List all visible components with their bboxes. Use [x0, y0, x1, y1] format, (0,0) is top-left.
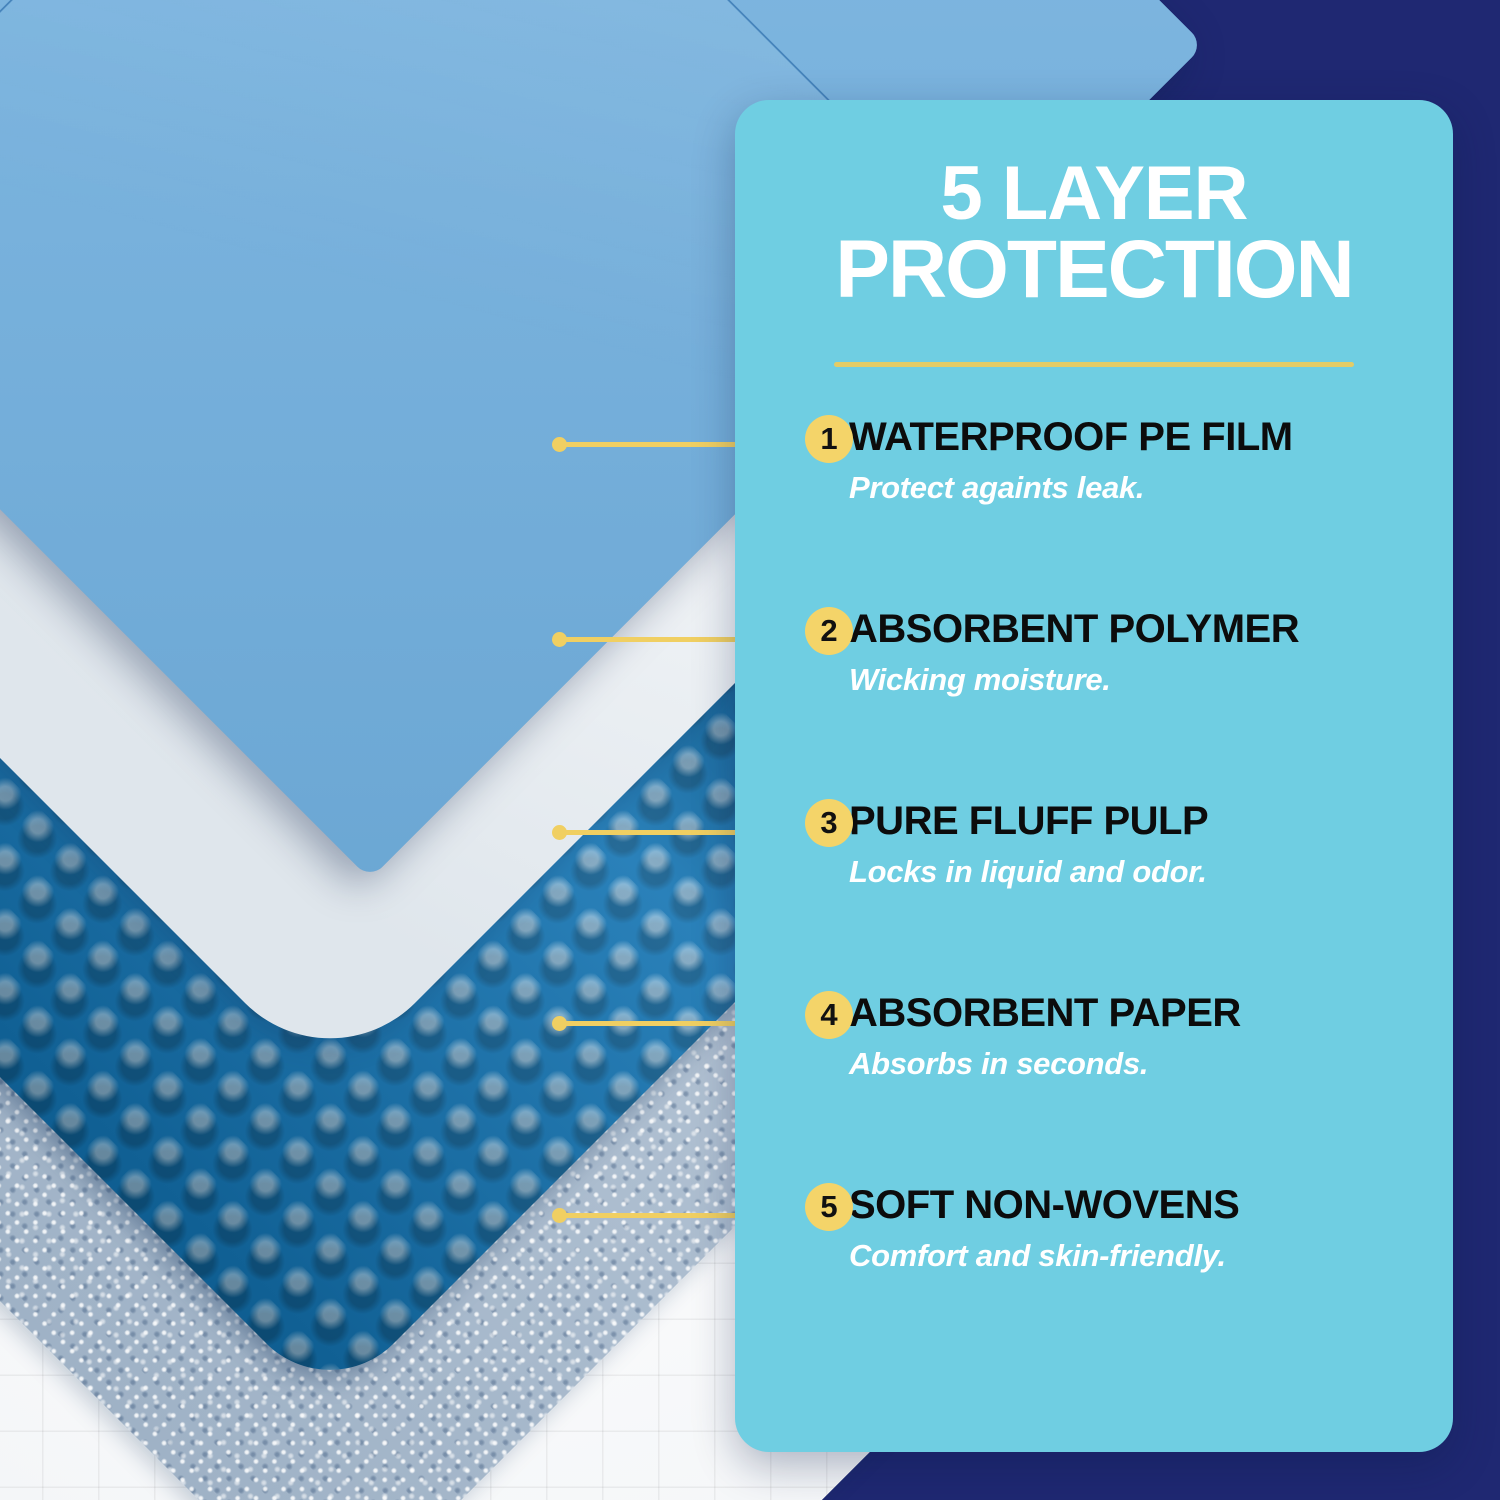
layer-row-1: 1 WATERPROOF PE FILM Protect againts lea… [775, 411, 1413, 603]
leader-dot-1 [552, 437, 567, 452]
leader-dot-3 [552, 825, 567, 840]
layer-number-badge-3: 3 [805, 799, 853, 847]
layer-row-3: 3 PURE FLUFF PULP Locks in liquid and od… [775, 795, 1413, 987]
layer-heading-2: ABSORBENT POLYMER [849, 603, 1413, 655]
layer-list: 1 WATERPROOF PE FILM Protect againts lea… [775, 411, 1413, 1371]
five-layer-protection-panel: 5 LAYER PROTECTION 1 WATERPROOF PE FILM … [735, 100, 1453, 1452]
gold-divider [834, 362, 1354, 367]
layer-row-5: 5 SOFT NON-WOVENS Comfort and skin-frien… [775, 1179, 1413, 1371]
panel-title: 5 LAYER PROTECTION [775, 144, 1413, 310]
leader-dot-4 [552, 1016, 567, 1031]
layer-heading-3: PURE FLUFF PULP [849, 795, 1413, 847]
layer-number-badge-4: 4 [805, 991, 853, 1039]
layer-number-badge-2: 2 [805, 607, 853, 655]
leader-dot-5 [552, 1208, 567, 1223]
leader-dot-2 [552, 632, 567, 647]
layer-row-2: 2 ABSORBENT POLYMER Wicking moisture. [775, 603, 1413, 795]
layer-subtext-3: Locks in liquid and odor. [849, 849, 1413, 895]
layer-heading-4: ABSORBENT PAPER [849, 987, 1413, 1039]
layer-subtext-5: Comfort and skin-friendly. [849, 1233, 1413, 1279]
layer-subtext-2: Wicking moisture. [849, 657, 1413, 703]
layer-heading-5: SOFT NON-WOVENS [849, 1179, 1413, 1231]
infographic-root: 5 LAYER PROTECTION 1 WATERPROOF PE FILM … [0, 0, 1500, 1500]
panel-title-line-2: PROTECTION [775, 231, 1413, 310]
layer-subtext-4: Absorbs in seconds. [849, 1041, 1413, 1087]
layer-row-4: 4 ABSORBENT PAPER Absorbs in seconds. [775, 987, 1413, 1179]
layer-number-badge-1: 1 [805, 415, 853, 463]
layer-subtext-1: Protect againts leak. [849, 465, 1413, 511]
layer-heading-1: WATERPROOF PE FILM [849, 411, 1413, 463]
layer-number-badge-5: 5 [805, 1183, 853, 1231]
